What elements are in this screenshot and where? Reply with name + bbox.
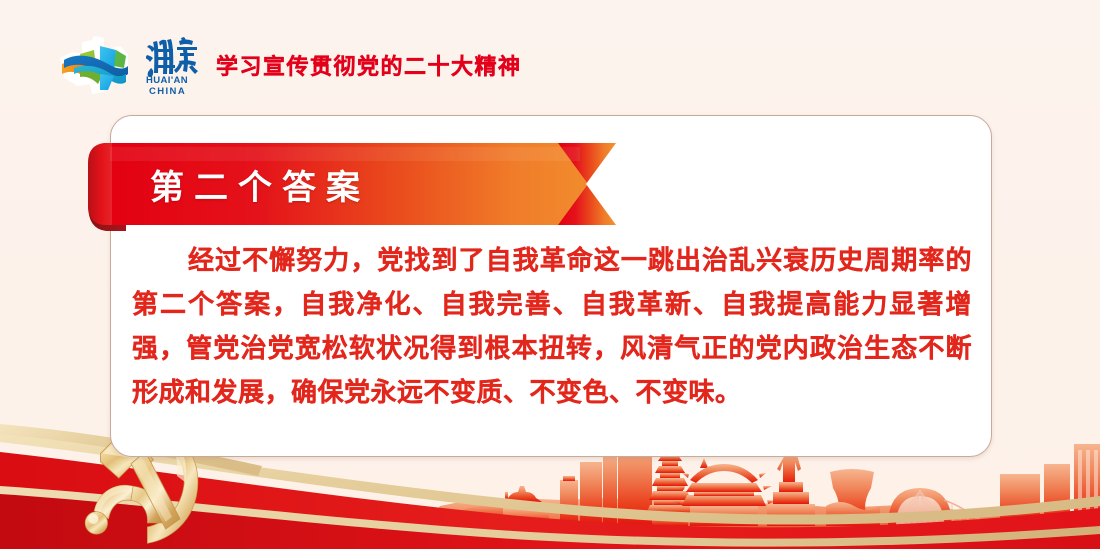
body-paragraph: 经过不懈努力，党找到了自我革命这一跳出治乱兴衰历史周期率的第二个答案，自我净化、… [132,238,972,414]
header-title: 学习宣传贯彻党的二十大精神 [216,49,522,81]
logo-pinyin-text: HUAI'AN [146,75,188,86]
banner-title: 第二个答案 [150,143,370,225]
huaian-city-logo-icon [58,34,130,96]
header: HUAI'AN CHINA 学习宣传贯彻党的二十大精神 [58,34,522,96]
poster-canvas: HUAI'AN CHINA 学习宣传贯彻党的二十大精神 [0,0,1100,549]
huaian-logo-wordmark: HUAI'AN CHINA [146,35,200,95]
section-banner: 第二个答案 [88,143,616,225]
logo-country-text: CHINA [149,86,186,95]
